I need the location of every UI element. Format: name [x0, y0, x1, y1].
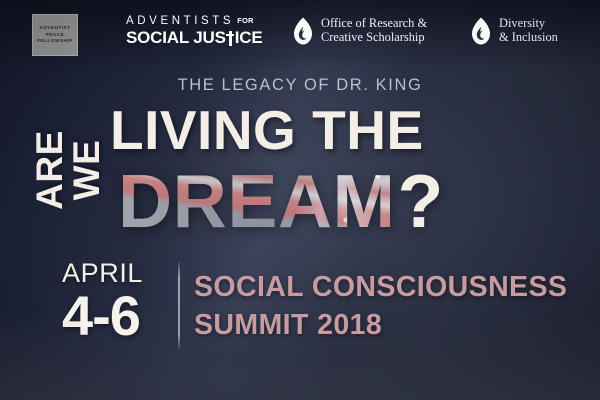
- asj-word-adventists: ADVENTISTS: [126, 16, 234, 28]
- logo-office-of-research-creative-scholarship: Office of Research & Creative Scholarshi…: [292, 17, 427, 45]
- logo-diversity-and-inclusion: Diversity & Inclusion: [470, 17, 558, 45]
- footer-divider: [178, 262, 180, 349]
- headline-question-mark: ?: [398, 164, 444, 239]
- headline-line-dream-wrap: DREAM?: [118, 164, 443, 239]
- di-line-1: Diversity: [499, 17, 558, 31]
- asj-text-ice: ICE: [235, 29, 263, 47]
- apf-logo-box: ADVENTIST PEACE FELLOWSHIP: [32, 14, 78, 56]
- logo-adventist-peace-fellowship: ADVENTIST PEACE FELLOWSHIP: [32, 14, 78, 56]
- asj-top-row: ADVENTISTS FOR: [126, 16, 254, 28]
- di-text-block: Diversity & Inclusion: [499, 17, 558, 45]
- apf-line-1: ADVENTIST: [40, 26, 71, 31]
- poster-kicker: THE LEGACY OF DR. KING: [0, 76, 600, 95]
- orcs-text-block: Office of Research & Creative Scholarshi…: [321, 17, 427, 45]
- headline-vertical-are-we: ARE WE: [31, 95, 105, 245]
- event-name-line-1: SOCIAL CONSCIOUSNESS: [194, 273, 567, 302]
- logo-adventists-for-social-justice: ADVENTISTS FOR SOCIAL JUSICE: [126, 16, 262, 47]
- orcs-line-2: Creative Scholarship: [321, 31, 427, 45]
- headline-line-living-the: LIVING THE: [110, 103, 424, 158]
- asj-text-social-jus: SOCIAL JUS: [126, 29, 226, 47]
- di-line-2: & Inclusion: [499, 31, 558, 45]
- headline-line-dream: DREAM: [118, 164, 396, 239]
- sponsor-logo-bar: ADVENTIST PEACE FELLOWSHIP ADVENTISTS FO…: [0, 0, 600, 64]
- flame-icon: [292, 17, 314, 45]
- asj-word-for: FOR: [237, 17, 253, 25]
- apf-line-2: PEACE: [46, 33, 65, 38]
- event-month: APRIL: [62, 260, 143, 287]
- event-name-line-2: SUMMIT 2018: [194, 311, 382, 340]
- orcs-line-1: Office of Research &: [321, 17, 427, 31]
- flame-icon: [470, 17, 492, 45]
- event-dates: 4-6: [62, 288, 140, 344]
- asj-bottom-row: SOCIAL JUSICE: [126, 29, 262, 47]
- apf-line-3: FELLOWSHIP: [37, 39, 73, 44]
- event-poster: ADVENTIST PEACE FELLOWSHIP ADVENTISTS FO…: [0, 0, 600, 400]
